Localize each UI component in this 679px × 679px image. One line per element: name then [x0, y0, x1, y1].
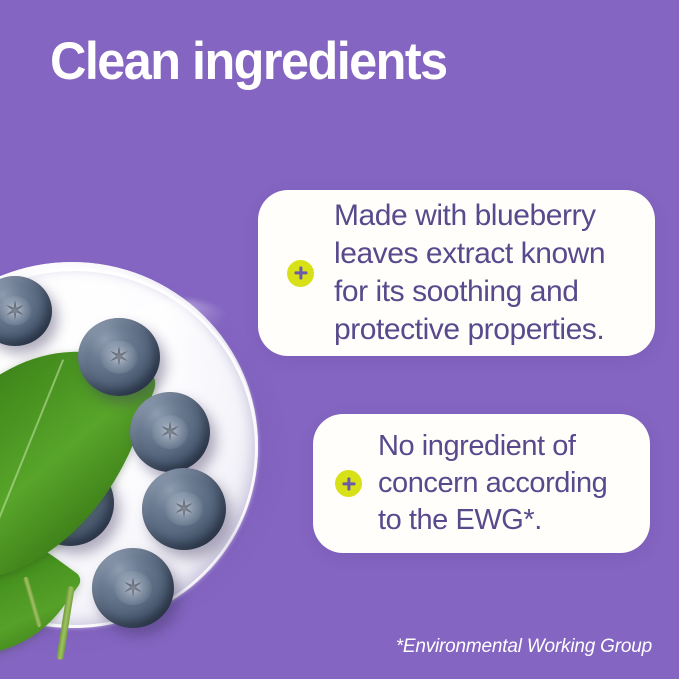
card-text-line: for its soothing and: [334, 273, 605, 311]
card-text-line: leaves extract known: [334, 235, 605, 273]
page-title: Clean ingredients: [50, 32, 601, 92]
benefit-card-ewg: No ingredient of concern according to th…: [313, 414, 650, 553]
plus-icon: [335, 470, 362, 497]
plus-icon: [287, 260, 314, 287]
footnote: *Environmental Working Group: [396, 636, 652, 658]
card-text-line: to the EWG*.: [378, 502, 607, 539]
card-text-line: No ingredient of: [378, 428, 607, 465]
plus-icon-vertical-bar: [299, 267, 302, 280]
infographic-canvas: Clean ingredients Made with blueberry le…: [0, 0, 679, 679]
card-text-line: Made with blueberry: [334, 197, 605, 235]
benefit-card-ingredients: Made with blueberry leaves extract known…: [258, 190, 655, 356]
blueberry: [142, 468, 226, 550]
card-text-line: protective properties.: [334, 311, 605, 349]
benefit-card-text: No ingredient of concern according to th…: [378, 428, 607, 539]
product-photo: [0, 0, 300, 679]
blueberry: [78, 318, 160, 396]
blueberry: [92, 548, 174, 628]
plus-icon-vertical-bar: [347, 477, 350, 490]
benefit-card-text: Made with blueberry leaves extract known…: [334, 197, 605, 349]
card-text-line: concern according: [378, 465, 607, 502]
blueberry: [130, 392, 210, 472]
